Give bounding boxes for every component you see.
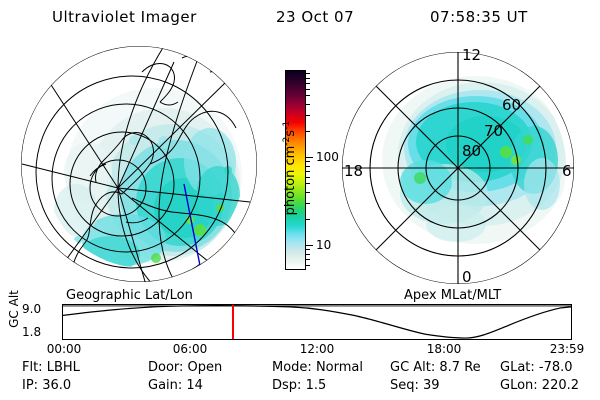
- orbit-xtick-1: 06:00: [173, 342, 208, 356]
- colorbar-minor-tick: [306, 254, 310, 255]
- status-cell-mode: Mode: Normal: [272, 360, 363, 375]
- time-cursor[interactable]: [232, 305, 234, 339]
- colorbar-minor-tick: [306, 89, 310, 90]
- status-value: 14: [186, 378, 203, 393]
- colorbar-minor-tick: [306, 83, 310, 84]
- geographic-plot-svg: [14, 44, 264, 292]
- status-cell-ip: IP: 36.0: [22, 378, 71, 393]
- colorbar-label-sup2: -1: [282, 121, 292, 130]
- colorbar-minor-tick: [306, 95, 310, 96]
- colorbar-minor-tick: [306, 161, 310, 162]
- colorbar-minor-tick: [306, 219, 310, 220]
- geographic-polar-plot[interactable]: [14, 44, 264, 292]
- colorbar-major-tick-0: [306, 157, 313, 158]
- orbit-altitude-panel[interactable]: GC Alt 9.0 1.8 00:00 06:00 12:00 18:00 2…: [0, 300, 600, 356]
- colorbar-minor-tick: [306, 166, 310, 167]
- colorbar-minor-tick: [306, 192, 310, 193]
- orbit-plot-box[interactable]: [62, 304, 572, 340]
- colorbar-minor-tick: [306, 171, 310, 172]
- colorbar-minor-tick: [306, 177, 310, 178]
- colorbar-label-sup1: -2: [282, 137, 292, 146]
- colorbar-minor-tick: [306, 265, 310, 266]
- mlat-label-70: 70: [484, 122, 503, 140]
- status-cell-glon: GLon: 220.2: [500, 378, 579, 393]
- status-row-2: IP: 36.0Gain: 14Dsp: 1.5Seq: 39GLon: 220…: [0, 378, 600, 396]
- status-label: IP:: [22, 378, 42, 393]
- colorbar-minor-tick: [306, 73, 310, 74]
- colorbar-minor-tick: [306, 104, 310, 105]
- apex-plot-svg: 12 18 6 0 60 70 80: [336, 44, 586, 292]
- status-cell-glat: GLat: -78.0: [500, 360, 573, 375]
- header-date: 23 Oct 07: [276, 8, 354, 26]
- header-bar: Ultraviolet Imager 23 Oct 07 07:58:35 UT: [0, 6, 600, 30]
- status-value: Open: [188, 360, 223, 375]
- status-panel: Flt: LBHLDoor: OpenMode: NormalGC Alt: 8…: [0, 360, 600, 400]
- status-label: GLat:: [500, 360, 539, 375]
- colorbar-minor-tick: [306, 131, 310, 132]
- mlt-label-6: 6: [562, 162, 572, 180]
- colorbar-label-main: photon cm: [283, 146, 298, 216]
- page-title: Ultraviolet Imager: [52, 8, 197, 26]
- status-label: Dsp:: [272, 378, 306, 393]
- mlat-label-80: 80: [462, 142, 481, 160]
- status-value: 39: [423, 378, 440, 393]
- status-label: Door:: [148, 360, 188, 375]
- status-value: 1.5: [306, 378, 327, 393]
- header-time: 07:58:35 UT: [430, 8, 528, 26]
- status-cell-seq: Seq: 39: [390, 378, 440, 393]
- orbit-xtick-2: 12:00: [300, 342, 335, 356]
- status-value: 8.7 Re: [439, 360, 480, 375]
- status-label: Mode:: [272, 360, 316, 375]
- colorbar-minor-tick: [306, 115, 310, 116]
- colorbar-label-mid: s: [283, 130, 298, 137]
- mlat-label-60: 60: [502, 96, 521, 114]
- status-cell-door: Door: Open: [148, 360, 222, 375]
- orbit-xtick-3: 18:00: [427, 342, 462, 356]
- orbit-altitude-curve: [63, 305, 571, 339]
- colorbar[interactable]: 10010 photon cm-2s-1: [266, 60, 346, 290]
- colorbar-minor-tick: [306, 78, 310, 79]
- orbit-ytick-max: 9.0: [22, 302, 41, 316]
- orbit-ytick-min: 1.8: [22, 325, 41, 339]
- status-value: -78.0: [539, 360, 573, 375]
- mlt-label-0: 0: [462, 268, 472, 286]
- colorbar-minor-tick: [306, 259, 310, 260]
- orbit-xtick-4: 23:59: [550, 342, 585, 356]
- status-label: Seq:: [390, 378, 423, 393]
- status-value: 36.0: [42, 378, 71, 393]
- colorbar-ticks: 10010: [306, 70, 346, 270]
- status-label: GLon:: [500, 378, 542, 393]
- apex-graticule: [342, 52, 574, 284]
- status-cell-gcalt: GC Alt: 8.7 Re: [390, 360, 481, 375]
- colorbar-minor-tick: [306, 249, 310, 250]
- apex-polar-plot[interactable]: 12 18 6 0 60 70 80: [336, 44, 586, 292]
- orbit-y-axis-label: GC Alt: [7, 279, 21, 339]
- colorbar-minor-tick: [306, 203, 310, 204]
- status-cell-flt: Flt: LBHL: [22, 360, 80, 375]
- status-value: Normal: [316, 360, 363, 375]
- colorbar-minor-tick: [306, 183, 310, 184]
- status-row-1: Flt: LBHLDoor: OpenMode: NormalGC Alt: 8…: [0, 360, 600, 378]
- colorbar-tick-label-0: 100: [316, 150, 339, 164]
- status-cell-dsp: Dsp: 1.5: [272, 378, 326, 393]
- status-label: GC Alt:: [390, 360, 439, 375]
- status-label: Flt:: [22, 360, 47, 375]
- status-label: Gain:: [148, 378, 186, 393]
- status-cell-gain: Gain: 14: [148, 378, 203, 393]
- colorbar-axis-label: photon cm-2s-1: [282, 88, 298, 248]
- colorbar-tick-label-1: 10: [316, 238, 331, 252]
- mlt-label-12: 12: [462, 46, 481, 64]
- status-value: LBHL: [47, 360, 80, 375]
- mlt-label-18: 18: [344, 162, 363, 180]
- colorbar-major-tick-1: [306, 245, 313, 246]
- orbit-xtick-0: 00:00: [47, 342, 82, 356]
- status-value: 220.2: [542, 378, 579, 393]
